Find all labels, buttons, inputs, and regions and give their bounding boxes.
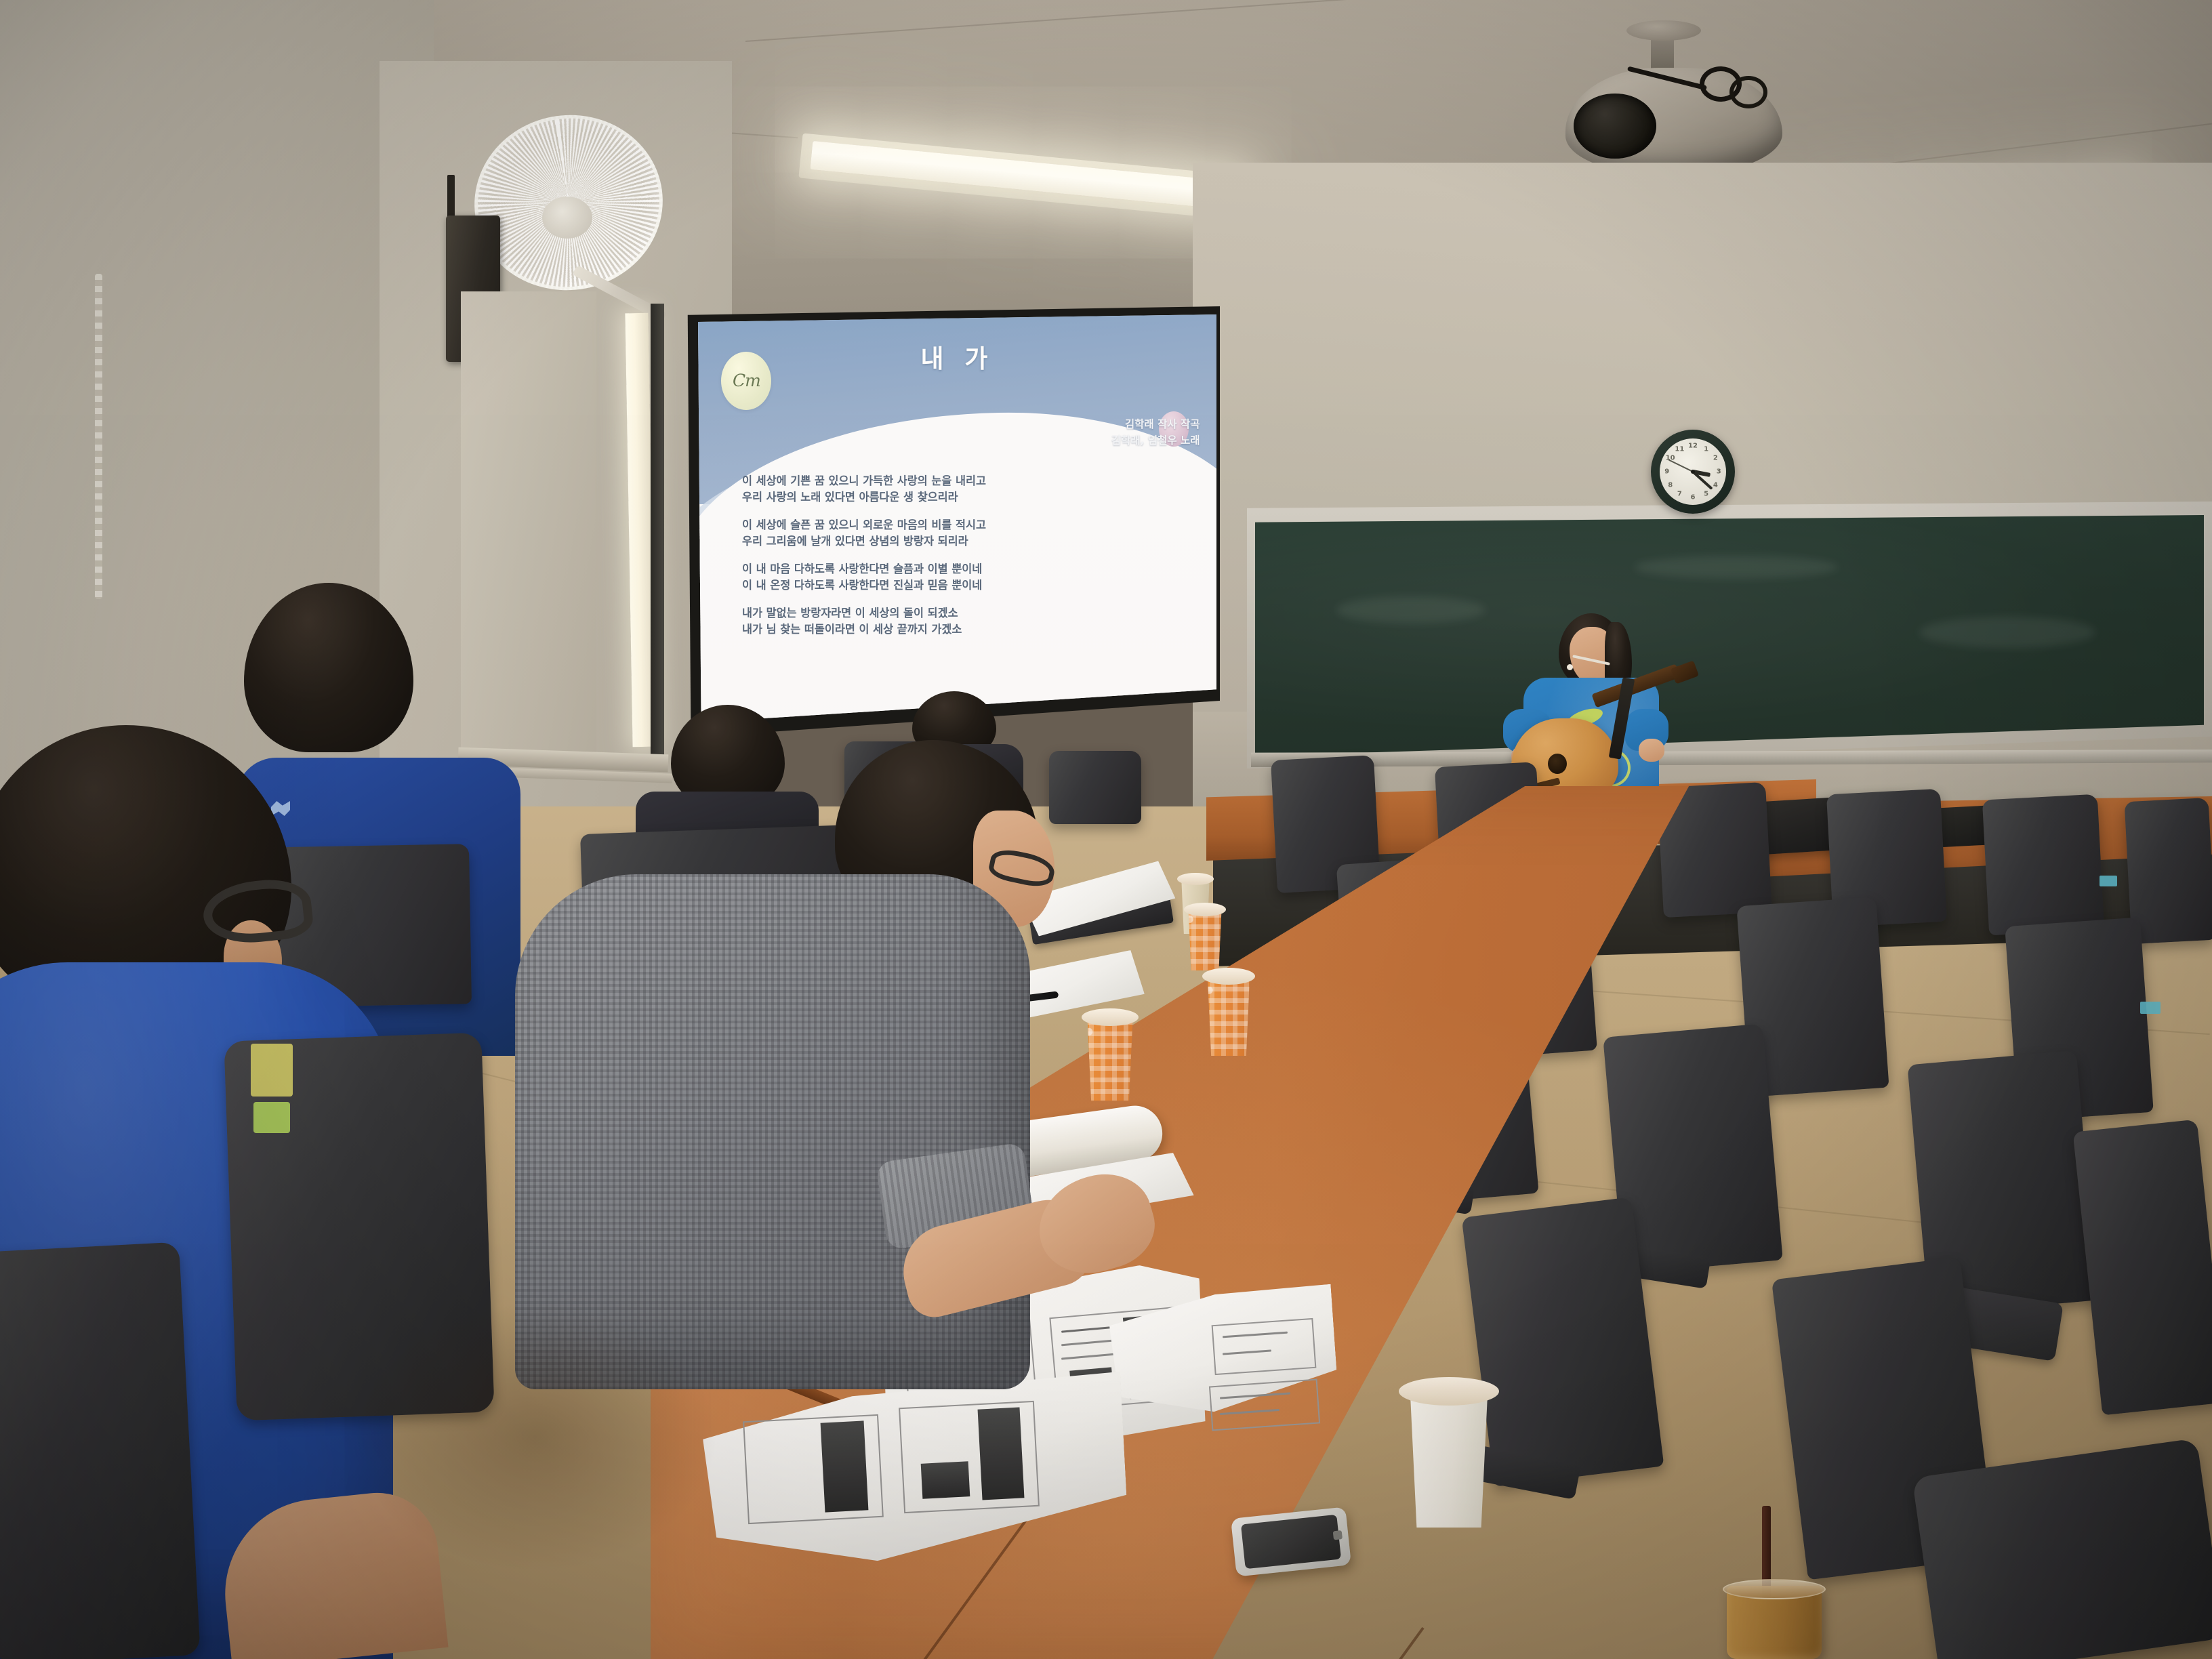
chair[interactable] xyxy=(1049,751,1141,824)
clock-number: 6 xyxy=(1688,494,1698,501)
lyric-line: 이 내 마음 다하도록 사랑한다면 슬픔과 이별 뿐이네 xyxy=(742,561,1195,577)
slide-title: 내 가 xyxy=(698,338,1216,375)
form-frame xyxy=(1212,1318,1317,1375)
slide-lyrics: 이 세상에 기쁜 꿈 있으니 가득한 사랑의 눈을 내리고 우리 사랑의 노래 … xyxy=(742,473,1195,649)
clock-number: 3 xyxy=(1714,468,1723,476)
chair[interactable] xyxy=(0,1242,201,1659)
clock-number: 2 xyxy=(1711,455,1720,462)
cup-rim xyxy=(1177,873,1214,885)
cup-rim xyxy=(1399,1377,1499,1406)
lyric-line: 이 세상에 슬픈 꿈 있으니 외로운 마음의 비를 적시고 xyxy=(742,517,1195,533)
paper-cup-orange[interactable] xyxy=(1082,1017,1138,1101)
clock-number: 11 xyxy=(1675,445,1684,453)
cup-rim xyxy=(1184,903,1226,916)
chair-label-tag xyxy=(253,1102,290,1133)
cup-rim xyxy=(1082,1008,1139,1026)
handout-slide-image xyxy=(978,1407,1025,1500)
form-frame xyxy=(1209,1378,1320,1431)
paper-cup-orange[interactable] xyxy=(1203,976,1254,1056)
chair-label-tag xyxy=(2140,1002,2160,1014)
chair-label-tag xyxy=(251,1044,293,1097)
clock-number: 9 xyxy=(1662,468,1672,476)
paper-cup-orange[interactable] xyxy=(1185,908,1225,970)
lyric-stanza: 이 세상에 기쁜 꿈 있으니 가득한 사랑의 눈을 내리고 우리 사랑의 노래 … xyxy=(742,473,1195,506)
fan-hub xyxy=(542,197,592,239)
clock-face: 12 1 2 3 4 5 6 7 8 9 10 11 xyxy=(1660,438,1726,505)
paper-cup-white[interactable] xyxy=(1401,1389,1496,1528)
lyric-stanza: 내가 말없는 방랑자라면 이 세상의 돌이 되겠소 내가 님 찾는 떠돌이라면 … xyxy=(742,605,1195,638)
slide-credit-line-2: 김학래, 임철우 노래 xyxy=(1111,432,1200,449)
phone-home-button[interactable] xyxy=(1333,1530,1343,1540)
clock-number: 8 xyxy=(1666,481,1675,489)
clock-number: 12 xyxy=(1688,442,1698,449)
chair[interactable] xyxy=(1982,794,2104,936)
lyric-stanza: 이 세상에 슬픈 꿈 있으니 외로운 마음의 비를 적시고 우리 그리움에 날개… xyxy=(742,517,1195,550)
presenter-fretting-hand xyxy=(1639,739,1664,762)
clock-number: 5 xyxy=(1702,491,1711,498)
guitar-soundhole-icon xyxy=(1548,754,1567,774)
smartphone[interactable] xyxy=(1231,1507,1351,1576)
projection-screen: Cm 내 가 김학래 작사 작곡 김학래, 임철우 노래 이 세상에 기쁜 꿈 … xyxy=(698,314,1216,726)
iced-drink-rim xyxy=(1723,1579,1826,1599)
lyric-line: 우리 그리움에 날개 있다면 상념의 방랑자 되리라 xyxy=(742,533,1195,550)
chair[interactable] xyxy=(1912,1438,2212,1659)
cup-rim xyxy=(1202,968,1255,985)
clock-number: 7 xyxy=(1675,491,1684,498)
hanging-cord xyxy=(95,274,102,599)
lyric-line: 우리 사랑의 노래 있다면 아름다운 생 찾으리라 xyxy=(742,489,1195,506)
window-frame xyxy=(651,304,664,764)
phone-screen[interactable] xyxy=(1241,1515,1341,1569)
lyric-line: 이 내 온정 다하도록 사랑한다면 진실과 믿음 뿐이네 xyxy=(742,577,1195,594)
slide-credit: 김학래 작사 작곡 김학래, 임철우 노래 xyxy=(1111,416,1200,449)
clock-center-pin xyxy=(1691,470,1695,474)
lyric-stanza: 이 내 마음 다하도록 사랑한다면 슬픔과 이별 뿐이네 이 내 온정 다하도록… xyxy=(742,561,1195,594)
classroom-scene: Cm 내 가 김학래 작사 작곡 김학래, 임철우 노래 이 세상에 기쁜 꿈 … xyxy=(0,0,2212,1659)
clock-second-hand xyxy=(1668,459,1694,472)
chair-label-tag xyxy=(2100,876,2117,886)
handout-chart-block xyxy=(921,1461,970,1499)
window-recess xyxy=(461,291,596,766)
lyric-line: 내가 말없는 방랑자라면 이 세상의 돌이 되겠소 xyxy=(742,605,1195,621)
chair[interactable] xyxy=(1462,1197,1664,1487)
lyric-line: 내가 님 찾는 떠돌이라면 이 세상 끝까지 가겠소 xyxy=(742,621,1195,638)
projector-cable xyxy=(1729,76,1767,108)
clock-number: 1 xyxy=(1702,445,1711,453)
floor-shadow xyxy=(352,1301,718,1572)
chalkboard xyxy=(1255,515,2204,756)
slide-credit-line-1: 김학래 작사 작곡 xyxy=(1111,416,1200,432)
lyric-line: 이 세상에 기쁜 꿈 있으니 가득한 사랑의 눈을 내리고 xyxy=(742,473,1195,489)
projector-ceiling-plate xyxy=(1626,20,1701,41)
projector-lens-icon xyxy=(1574,94,1656,159)
headset-mic-tip-icon xyxy=(1567,664,1573,670)
handout-slide-image xyxy=(821,1420,869,1512)
